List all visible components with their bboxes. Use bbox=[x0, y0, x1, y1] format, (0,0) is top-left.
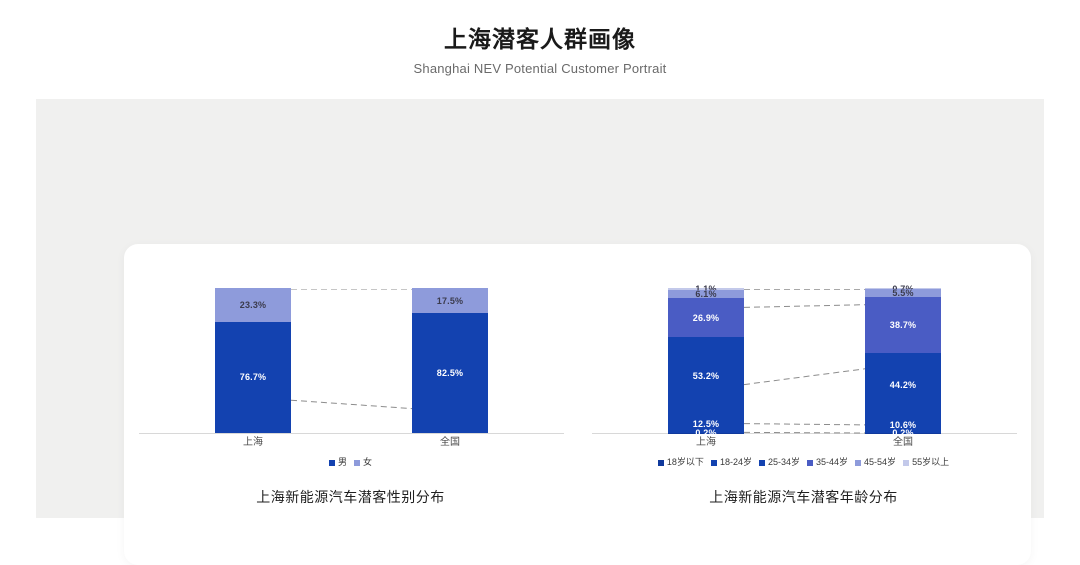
legend-label: 45-54岁 bbox=[864, 457, 896, 468]
x-axis-labels: 上海全国 bbox=[592, 436, 1017, 452]
segment-value-label: 76.7% bbox=[240, 372, 267, 382]
legend-item[interactable]: 18岁以下 bbox=[658, 457, 704, 468]
legend-swatch-icon bbox=[903, 460, 909, 466]
bar-segment[interactable]: 44.2% bbox=[865, 353, 941, 417]
bar-segment[interactable]: 6.1% bbox=[668, 290, 744, 299]
bar-segment[interactable]: 23.3% bbox=[215, 288, 291, 322]
charts-card: 23.3%76.7%17.5%82.5%上海全国男女上海新能源汽车潜客性别分布1… bbox=[124, 244, 1031, 565]
x-axis-line bbox=[139, 433, 564, 434]
page-title: 上海潜客人群画像 bbox=[0, 24, 1080, 54]
legend-label: 25-34岁 bbox=[768, 457, 800, 468]
legend-swatch-icon bbox=[759, 460, 765, 466]
segment-value-label: 53.2% bbox=[693, 371, 720, 381]
legend-label: 女 bbox=[363, 457, 372, 468]
plot-area-age: 1.1%6.1%26.9%53.2%12.5%0.2%0.7%5.5%38.7%… bbox=[592, 289, 1017, 434]
stacked-bar-gender-right[interactable]: 17.5%82.5% bbox=[412, 288, 488, 433]
segment-value-label: 38.7% bbox=[890, 320, 917, 330]
legend-swatch-icon bbox=[329, 460, 335, 466]
legend-label: 18-24岁 bbox=[720, 457, 752, 468]
stacked-bar-age-right[interactable]: 0.7%5.5%38.7%44.2%10.6%0.2% bbox=[865, 288, 941, 433]
legend-item[interactable]: 男 bbox=[329, 457, 347, 468]
page-header: 上海潜客人群画像 Shanghai NEV Potential Customer… bbox=[0, 24, 1080, 79]
legend-label: 35-44岁 bbox=[816, 457, 848, 468]
legend-item[interactable]: 45-54岁 bbox=[855, 457, 896, 468]
x-axis-tick-label: 全国 bbox=[865, 436, 941, 450]
legend-label: 男 bbox=[338, 457, 347, 468]
chart-caption-gender: 上海新能源汽车潜客性别分布 bbox=[124, 487, 577, 507]
segment-value-label: 44.2% bbox=[890, 380, 917, 390]
bar-segment[interactable]: 26.9% bbox=[668, 298, 744, 337]
plot-area-gender: 23.3%76.7%17.5%82.5% bbox=[139, 289, 564, 434]
chart-age: 1.1%6.1%26.9%53.2%12.5%0.2%0.7%5.5%38.7%… bbox=[577, 244, 1030, 565]
legend-gender: 男女 bbox=[124, 457, 577, 468]
legend-item[interactable]: 25-34岁 bbox=[759, 457, 800, 468]
legend-label: 55岁以上 bbox=[912, 457, 949, 468]
x-axis-tick-label: 上海 bbox=[668, 436, 744, 450]
x-axis-line bbox=[592, 433, 1017, 434]
bar-segment[interactable]: 5.5% bbox=[865, 289, 941, 297]
connector-lines bbox=[592, 289, 1017, 434]
stacked-bar-gender-left[interactable]: 23.3%76.7% bbox=[215, 288, 291, 433]
legend-age: 18岁以下18-24岁25-34岁35-44岁45-54岁55岁以上 bbox=[577, 457, 1030, 468]
bar-segment[interactable]: 38.7% bbox=[865, 297, 941, 353]
legend-item[interactable]: 55岁以上 bbox=[903, 457, 949, 468]
legend-swatch-icon bbox=[658, 460, 664, 466]
bar-segment[interactable]: 76.7% bbox=[215, 322, 291, 433]
chart-gender: 23.3%76.7%17.5%82.5%上海全国男女上海新能源汽车潜客性别分布 bbox=[124, 244, 577, 565]
legend-label: 18岁以下 bbox=[667, 457, 704, 468]
x-axis-labels: 上海全国 bbox=[139, 436, 564, 452]
legend-item[interactable]: 女 bbox=[354, 457, 372, 468]
segment-value-label: 17.5% bbox=[437, 296, 464, 306]
bar-segment[interactable]: 53.2% bbox=[668, 337, 744, 414]
legend-swatch-icon bbox=[354, 460, 360, 466]
content-panel: 23.3%76.7%17.5%82.5%上海全国男女上海新能源汽车潜客性别分布1… bbox=[36, 99, 1044, 518]
page-subtitle: Shanghai NEV Potential Customer Portrait bbox=[0, 59, 1080, 79]
chart-caption-age: 上海新能源汽车潜客年龄分布 bbox=[577, 487, 1030, 507]
x-axis-tick-label: 上海 bbox=[215, 436, 291, 450]
bar-segment[interactable]: 82.5% bbox=[412, 313, 488, 433]
stacked-bar-age-left[interactable]: 1.1%6.1%26.9%53.2%12.5%0.2% bbox=[668, 288, 744, 433]
legend-item[interactable]: 18-24岁 bbox=[711, 457, 752, 468]
charts-row: 23.3%76.7%17.5%82.5%上海全国男女上海新能源汽车潜客性别分布1… bbox=[124, 244, 1031, 565]
legend-swatch-icon bbox=[807, 460, 813, 466]
legend-item[interactable]: 35-44岁 bbox=[807, 457, 848, 468]
legend-swatch-icon bbox=[855, 460, 861, 466]
bar-segment[interactable]: 17.5% bbox=[412, 288, 488, 313]
x-axis-tick-label: 全国 bbox=[412, 436, 488, 450]
legend-swatch-icon bbox=[711, 460, 717, 466]
segment-value-label: 23.3% bbox=[240, 300, 267, 310]
connector-lines bbox=[139, 289, 564, 434]
segment-value-label: 26.9% bbox=[693, 313, 720, 323]
segment-value-label: 82.5% bbox=[437, 368, 464, 378]
